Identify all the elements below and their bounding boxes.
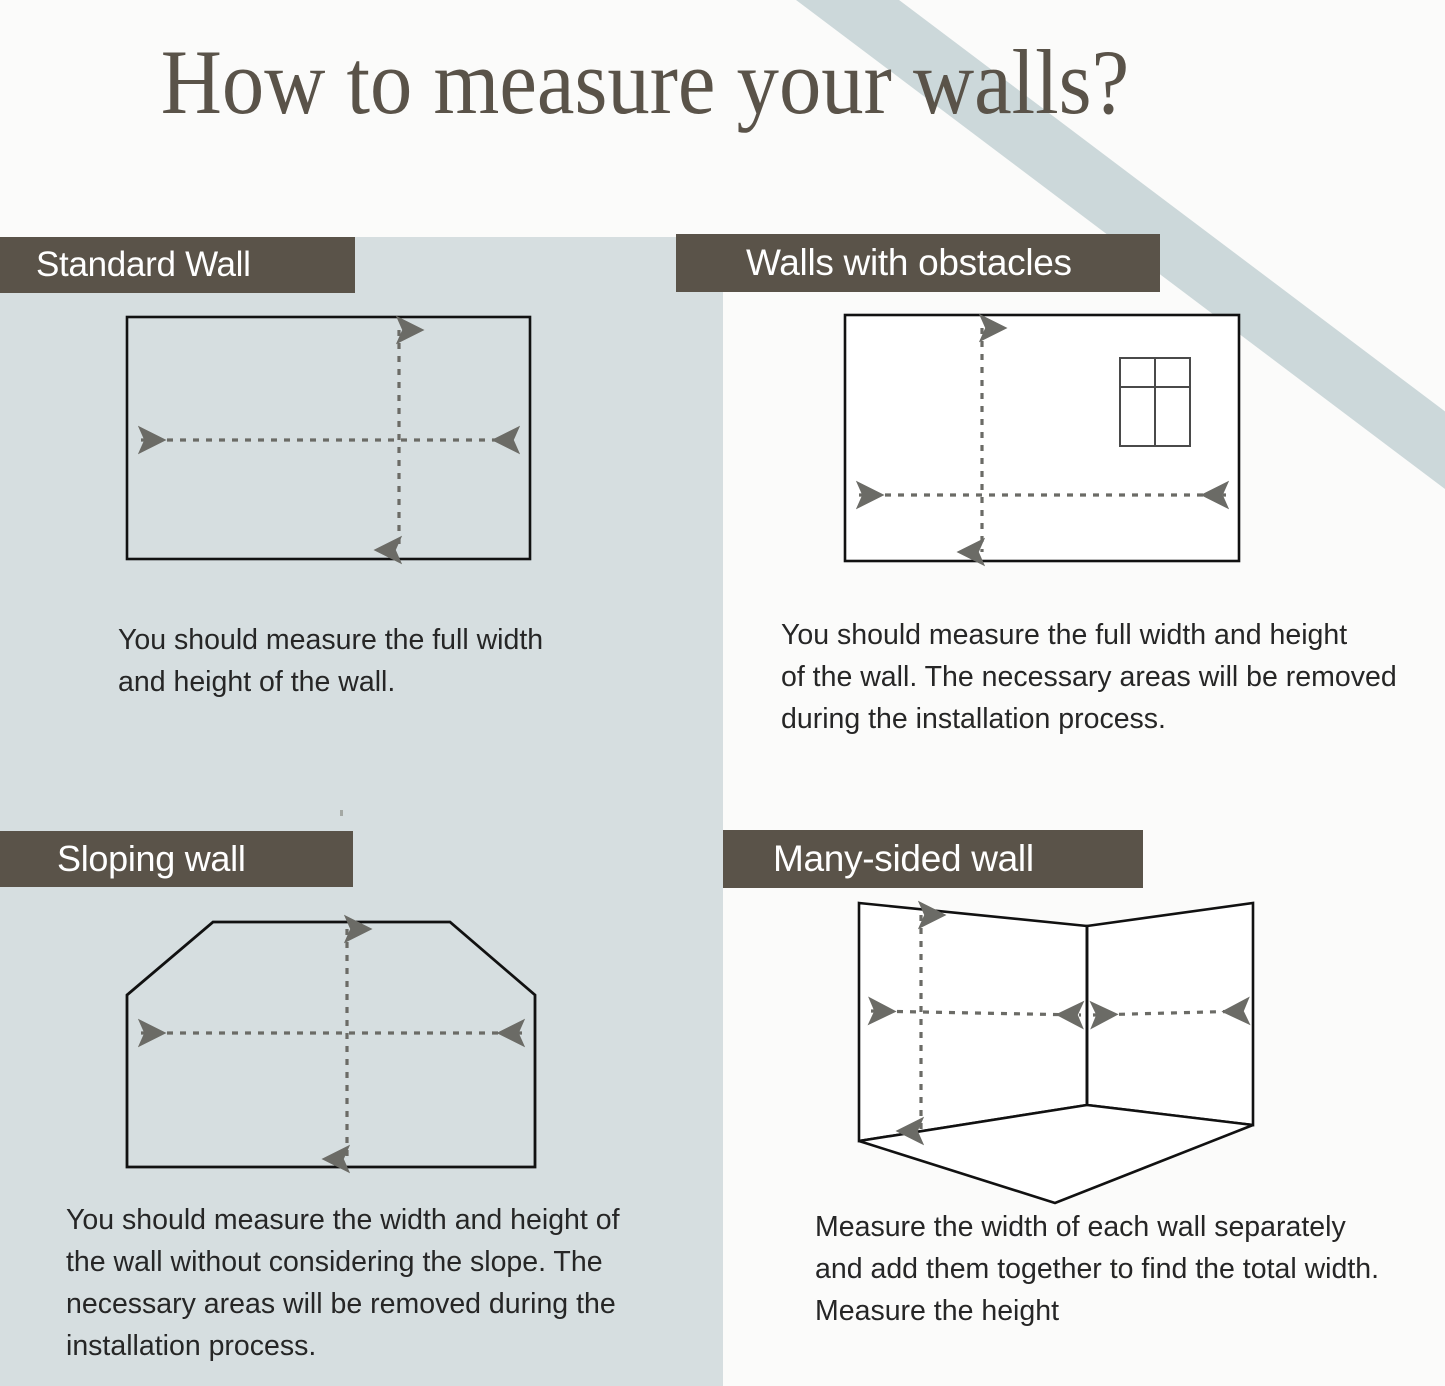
caption-standard-wall: You should measure the full width and he… (118, 620, 638, 704)
page-title: How to measure your walls? (52, 36, 1239, 128)
sloping-wall-diagram (125, 905, 570, 1190)
section-header-sloping-wall: Sloping wall (0, 831, 353, 887)
many-sided-wall-diagram (855, 893, 1295, 1213)
section-header-label: Many-sided wall (773, 838, 1034, 880)
section-header-standard-wall: Standard Wall (0, 237, 355, 293)
caption-walls-with-obstacles: You should measure the full width and he… (781, 615, 1406, 741)
infographic-canvas: How to measure your walls? Standard Wall (0, 0, 1445, 1386)
section-header-label: Walls with obstacles (746, 242, 1072, 284)
decorative-speck (340, 810, 343, 816)
section-header-walls-with-obstacles: Walls with obstacles (676, 234, 1160, 292)
section-header-label: Standard Wall (36, 245, 251, 285)
caption-many-sided-wall: Measure the width of each wall separatel… (815, 1207, 1425, 1333)
section-header-many-sided-wall: Many-sided wall (723, 830, 1143, 888)
standard-wall-diagram (125, 312, 565, 592)
walls-with-obstacles-diagram (843, 310, 1268, 585)
caption-sloping-wall: You should measure the width and height … (66, 1200, 666, 1368)
section-header-label: Sloping wall (57, 838, 246, 880)
